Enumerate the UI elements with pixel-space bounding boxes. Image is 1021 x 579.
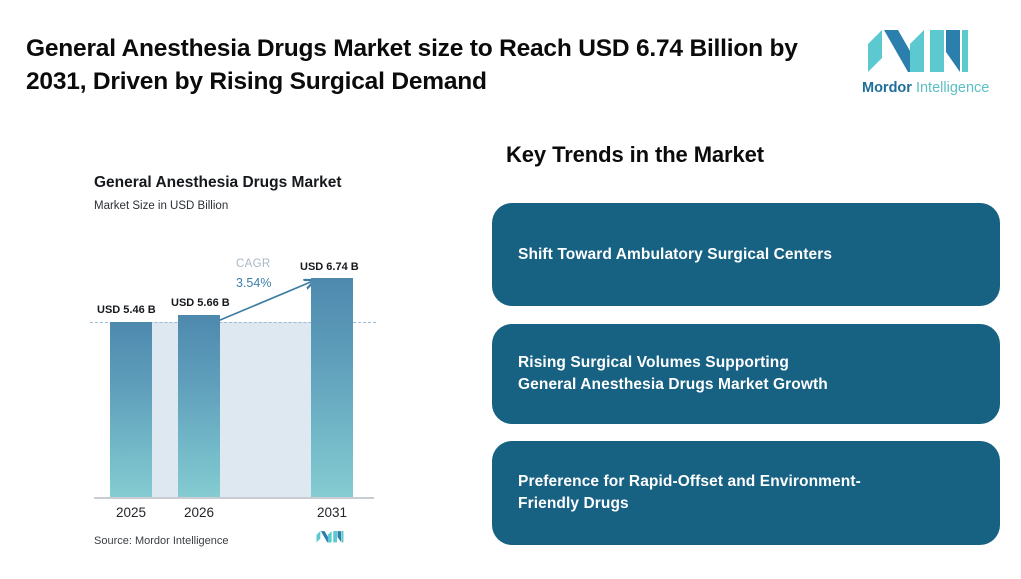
bar-2031 [311,278,353,497]
chart-source-text: Source: Mordor Intelligence [94,535,229,547]
logo-word-intelligence: Intelligence [916,80,989,96]
bar-2025 [110,322,152,497]
x-tick-2025: 2025 [101,505,161,520]
trend-card-label: Preference for Rapid-Offset and Environm… [518,471,861,515]
trend-card[interactable]: Shift Toward Ambulatory Surgical Centers [492,203,1000,306]
bar-label-2031: USD 6.74 B [300,261,359,273]
bar-label-2025: USD 5.46 B [97,304,156,316]
mordor-logo-mark-icon [866,28,970,76]
bar-label-2026: USD 5.66 B [171,297,230,309]
page-title: General Anesthesia Drugs Market size to … [26,32,836,99]
chart-x-axis-line [94,497,374,499]
x-tick-2031: 2031 [302,505,362,520]
trend-card[interactable]: Preference for Rapid-Offset and Environm… [492,441,1000,545]
logo-wordmark: Mordor Intelligence [862,81,974,96]
market-size-chart: General Anesthesia Drugs Market Market S… [0,130,470,570]
mordor-intelligence-logo: Mordor Intelligence [862,28,974,102]
key-trends-heading: Key Trends in the Market [506,142,764,168]
cagr-label: CAGR [236,258,270,270]
trend-card-label: Rising Surgical Volumes Supporting Gener… [518,352,828,396]
logo-word-mordor: Mordor [862,80,912,96]
chart-plot-area: CAGR 3.54% USD 5.46 B USD 5.66 B USD 6.7… [0,130,470,570]
x-tick-2026: 2026 [169,505,229,520]
mordor-logo-mark-icon-footer [316,528,344,546]
trend-card[interactable]: Rising Surgical Volumes Supporting Gener… [492,324,1000,424]
bar-2026 [178,315,220,497]
trend-card-label: Shift Toward Ambulatory Surgical Centers [518,244,832,266]
